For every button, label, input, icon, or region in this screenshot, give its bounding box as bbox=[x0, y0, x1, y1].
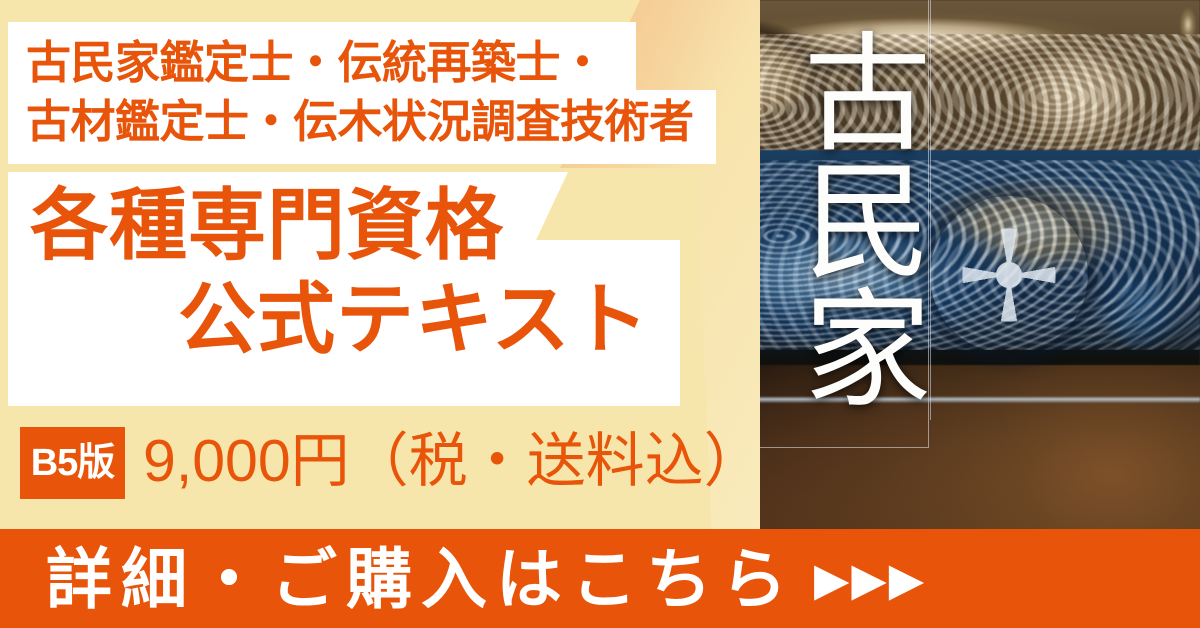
headline-line-1: 各種専門資格 bbox=[30, 186, 504, 264]
cover-crest-pattern bbox=[930, 196, 1088, 354]
promo-banner[interactable]: 伝統構法 古民家 古民家活用のための調査と再生の 古民家鑑定士・伝統再築士・ 古… bbox=[0, 0, 1200, 628]
headline-line-2: 公式テキスト bbox=[178, 280, 650, 358]
cta-label: 詳細・ご購入はこちら bbox=[46, 546, 796, 612]
price-text: 9,000円（税・送料込） bbox=[143, 432, 763, 491]
cover-rule-right bbox=[930, 0, 931, 420]
cta-bar[interactable]: 詳細・ご購入はこちら ▶▶▶ bbox=[0, 529, 1200, 628]
certifications-line-2: 古材鑑定士・伝木状況調査技術者 bbox=[26, 99, 694, 144]
format-badge-label: B5版 bbox=[31, 444, 115, 482]
format-badge: B5版 bbox=[20, 427, 125, 499]
certifications-panel: 古民家鑑定士・伝統再築士・ 古材鑑定士・伝木状況調査技術者 bbox=[8, 22, 716, 164]
certifications-line-1: 古民家鑑定士・伝統再築士・ bbox=[26, 40, 605, 85]
cta-arrows-icon: ▶▶▶ bbox=[814, 556, 926, 602]
cover-title-text: 古民家 bbox=[760, 8, 920, 428]
cover-family-crest-roundel bbox=[930, 196, 1088, 354]
